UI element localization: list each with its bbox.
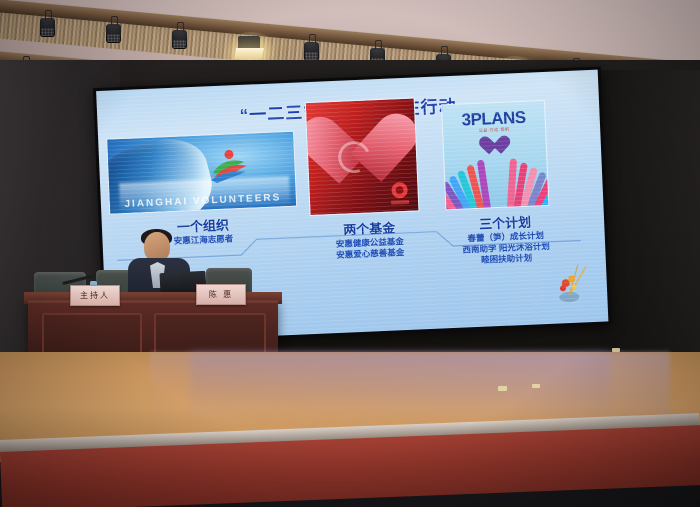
flower-arrangement (552, 256, 594, 304)
name-card-host: 主持人 (70, 285, 120, 306)
par-can-light (40, 18, 55, 37)
red-heart-poster-image (305, 97, 420, 216)
charity-badge-icon (386, 180, 413, 207)
slide-column-three-plans: 3PLANS 公益·行动·扬帆 三个计划 春蕾（笋）成长计划 西南助学 阳光沐浴… (441, 99, 566, 267)
curtain-right (600, 70, 700, 360)
photo-scene: “一二三”，安惠公益在行动 JIANGHAI VOLUNTEERS 一个组织 安… (0, 0, 700, 507)
three-plans-poster-image: 3PLANS 公益·行动·扬帆 (441, 100, 549, 210)
jianghai-volunteers-wave-image: JIANGHAI VOLUNTEERS (106, 131, 297, 215)
volunteer-logo-icon (204, 148, 251, 186)
par-can-light (172, 30, 187, 49)
slide-column-two-funds: 两个基金 安惠健康公益基金 安惠爱心慈善基金 (305, 97, 430, 262)
floor-debris (498, 386, 507, 391)
floor-debris (612, 348, 620, 352)
name-card-speaker: 陈 惠 (196, 284, 246, 305)
par-can-light (304, 42, 319, 61)
floor-debris (532, 384, 540, 388)
fresnel-light-lit (238, 36, 260, 52)
par-can-light (106, 24, 121, 43)
purple-heart-icon (483, 137, 506, 158)
